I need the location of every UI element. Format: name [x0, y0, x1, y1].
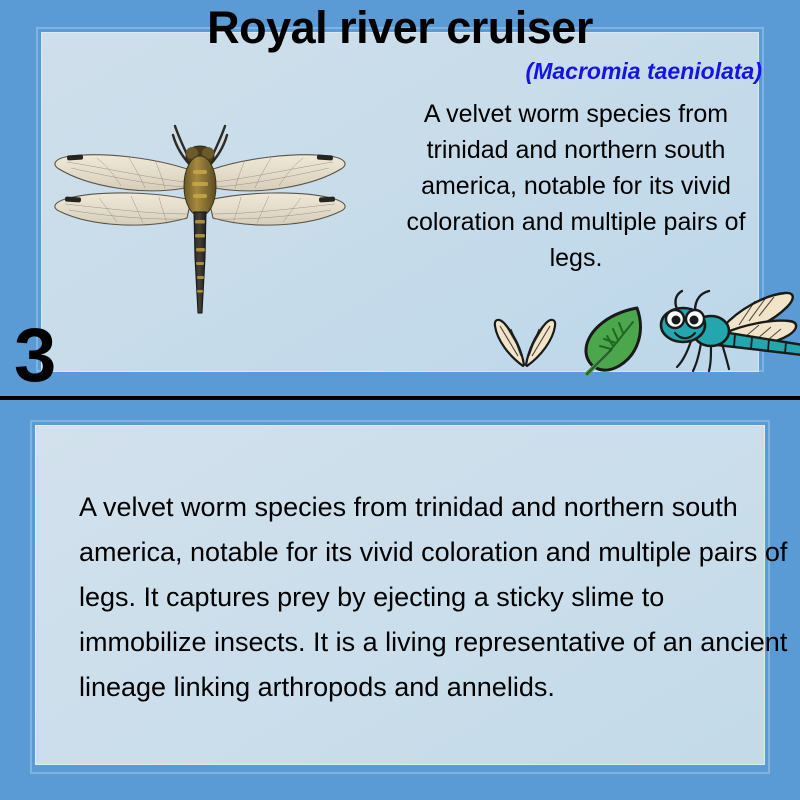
species-card-page: Royal river cruiser (Macromia taeniolata… [0, 0, 800, 800]
cartoon-dragonfly-icon [655, 283, 800, 375]
scientific-name: (Macromia taeniolata) [526, 58, 762, 85]
dragonfly-specimen-photo [45, 108, 355, 323]
leaf-icon [573, 300, 655, 378]
insect-wings-icon [485, 304, 565, 372]
card-number-badge: 3 [14, 318, 56, 394]
bottom-card-panel: A velvet worm species from trinidad and … [35, 425, 765, 765]
card-bottom: A velvet worm species from trinidad and … [0, 400, 800, 800]
card-divider [0, 396, 800, 400]
long-description: A velvet worm species from trinidad and … [79, 485, 793, 710]
card-top: Royal river cruiser (Macromia taeniolata… [0, 0, 800, 396]
page-title: Royal river cruiser [0, 2, 800, 54]
short-description: A velvet worm species from trinidad and … [392, 96, 760, 276]
